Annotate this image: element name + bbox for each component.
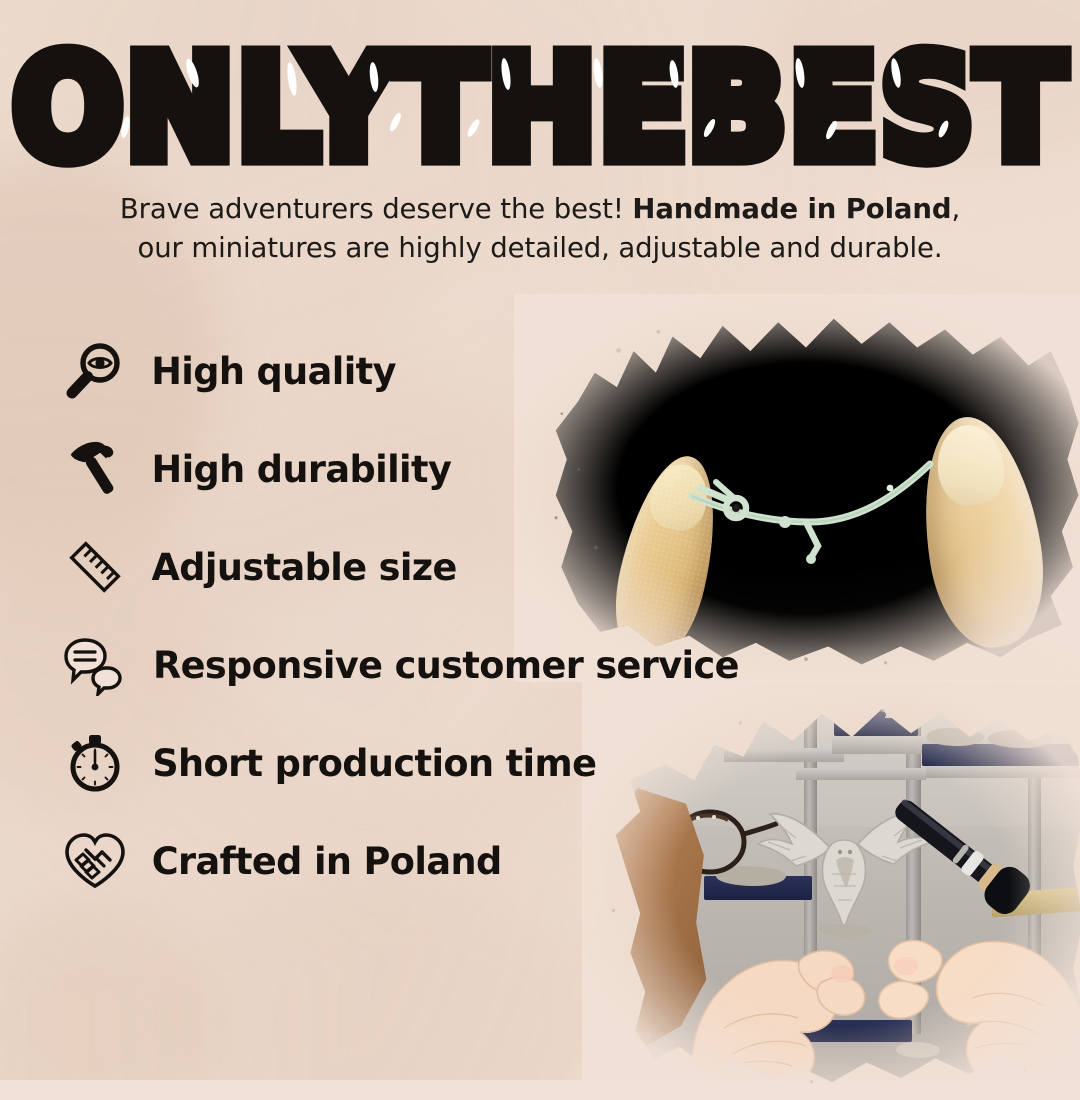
hammer-icon (58, 434, 132, 504)
shelf-board (724, 748, 844, 762)
feature-label: High durability (152, 448, 452, 491)
parts-tray (922, 744, 1080, 766)
page-title-word-1: ONLY (12, 38, 398, 181)
resin-parts-cluster (896, 1042, 940, 1058)
feature-item-high-quality[interactable]: High quality (58, 322, 742, 420)
heart-handshake-icon (58, 826, 132, 896)
magnifier-eye-icon (58, 336, 132, 406)
speech-bubbles-icon (58, 630, 132, 700)
feature-label: Short production time (152, 742, 596, 785)
feature-label: High quality (151, 350, 396, 393)
feature-item-customer-service[interactable]: Responsive customer service (58, 616, 742, 714)
hobby-tool (872, 774, 1062, 944)
subtitle: Brave adventurers deserve the best! Hand… (0, 190, 1080, 268)
resin-parts-cluster (988, 730, 1052, 748)
feature-item-crafted-in-poland[interactable]: Crafted in Poland (58, 812, 742, 910)
feature-item-production-time[interactable]: Short production time (58, 714, 742, 812)
feature-label: Adjustable size (152, 546, 457, 589)
resin-parts-cluster (926, 728, 984, 746)
page-title: ONLY THE BEST (0, 38, 1080, 166)
stopwatch-icon (58, 728, 132, 798)
feature-item-adjustable-size[interactable]: Adjustable size (58, 518, 742, 616)
feature-label: Responsive customer service (153, 644, 739, 687)
subtitle-comma: , (951, 193, 960, 225)
feature-list: High quality High durability (58, 322, 742, 910)
subtitle-line-1: Brave adventurers deserve the best! Hand… (0, 190, 1080, 229)
feature-label: Crafted in Poland (152, 840, 502, 883)
ruler-icon (58, 532, 132, 602)
feature-item-high-durability[interactable]: High durability (58, 420, 742, 518)
subtitle-lead: Brave adventurers deserve the best! (120, 193, 624, 225)
subtitle-emphasis: Handmade in Poland (632, 193, 951, 225)
page-title-word-2: THE (396, 38, 690, 181)
resin-parts-cluster (868, 708, 886, 721)
page-title-word-3: BEST (688, 38, 1068, 181)
resin-parts-cluster (840, 708, 860, 722)
subtitle-line-2: our miniatures are highly detailed, adju… (0, 229, 1080, 268)
